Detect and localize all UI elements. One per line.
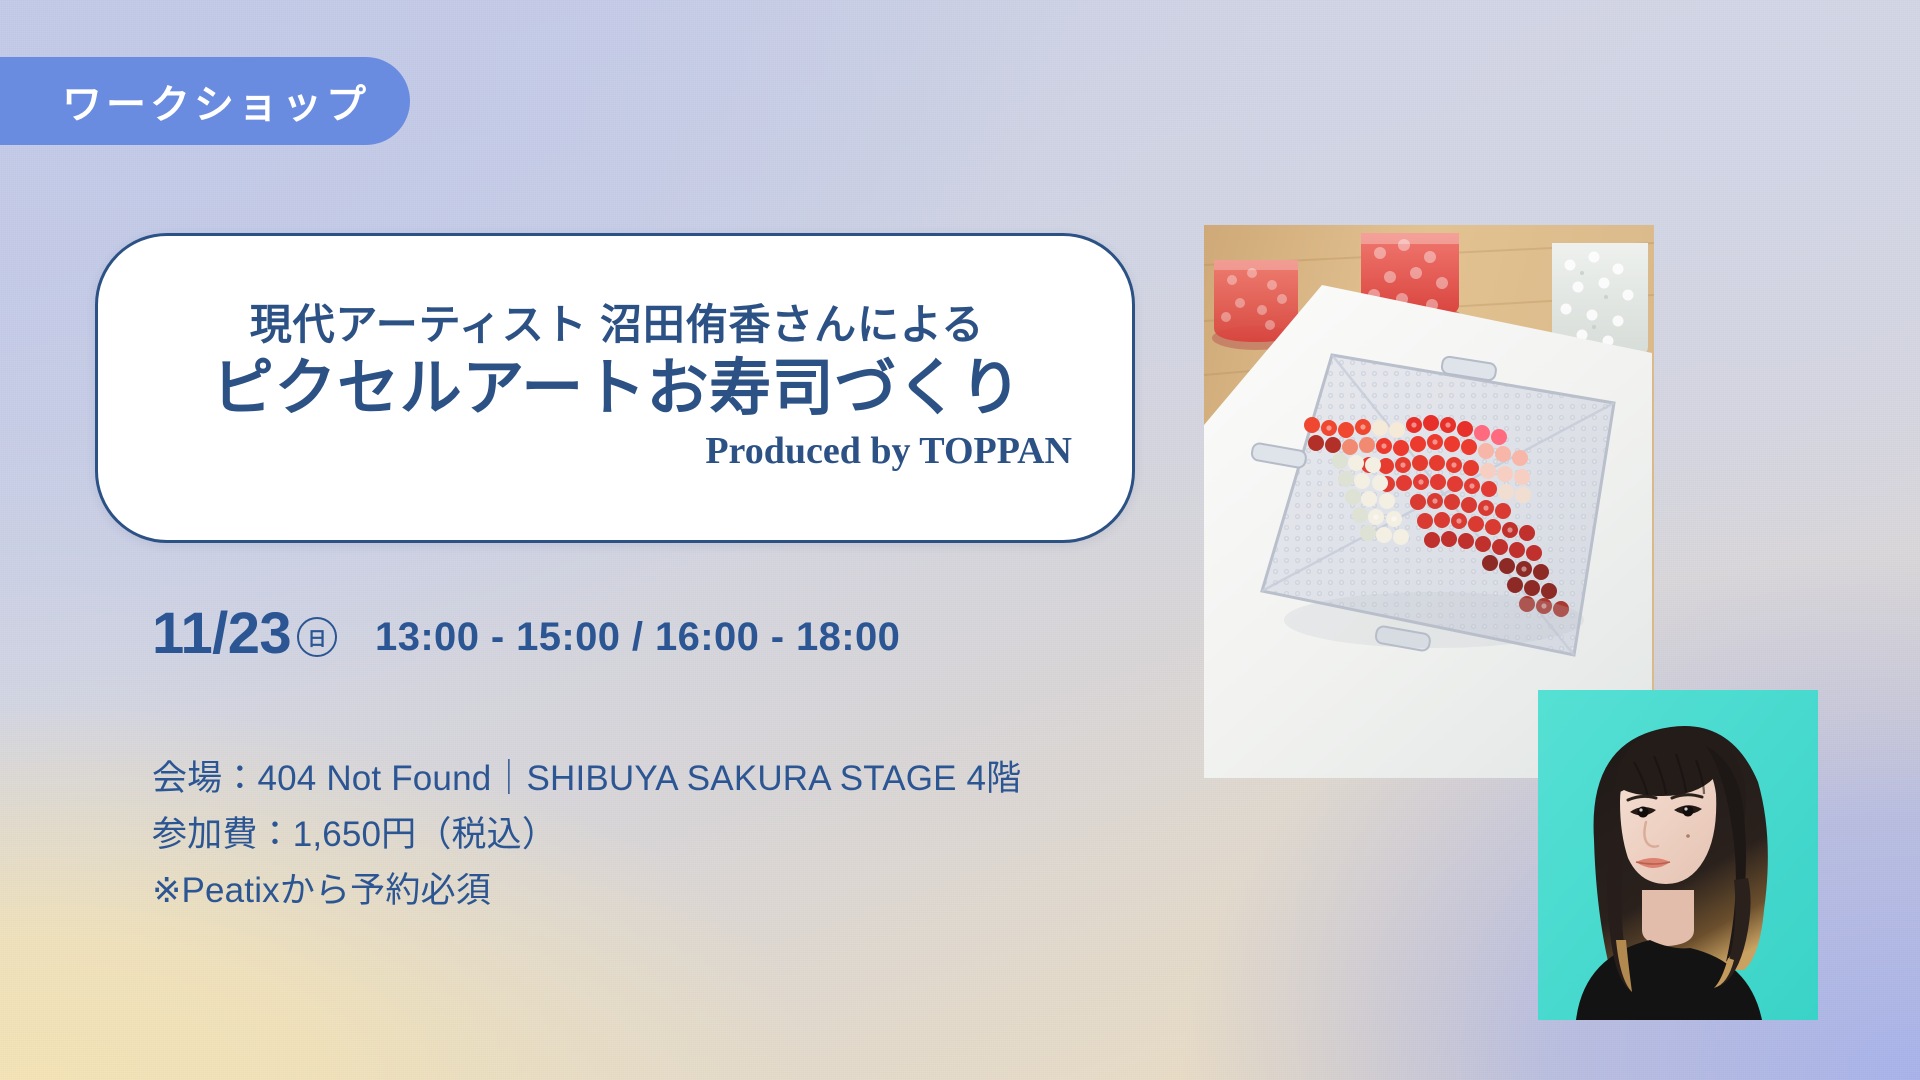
- artist-portrait-photo: [1538, 690, 1818, 1020]
- event-banner: ワークショップ 現代アーティスト 沼田侑香さんによる ピクセルアートお寿司づくり…: [0, 0, 1920, 1080]
- schedule-row: 11/23 日 13:00 - 15:00 / 16:00 - 18:00: [152, 605, 900, 663]
- event-times: 13:00 - 15:00 / 16:00 - 18:00: [375, 615, 900, 660]
- detail-reservation-note: ※Peatixから予約必須: [152, 869, 1021, 913]
- title-subtitle: 現代アーティスト 沼田侑香さんによる: [162, 301, 1072, 349]
- day-of-week-badge: 日: [297, 617, 337, 657]
- artist-portrait-illustration: [1538, 690, 1818, 1020]
- workshop-badge: ワークショップ: [0, 57, 410, 145]
- title-card: 現代アーティスト 沼田侑香さんによる ピクセルアートお寿司づくり Produce…: [95, 233, 1135, 543]
- event-date: 11/23: [152, 605, 291, 663]
- detail-fee: 参加費：1,650円（税込）: [152, 813, 1021, 857]
- produced-by-label: Produced by TOPPAN: [162, 429, 1072, 475]
- detail-venue: 会場：404 Not Found｜SHIBUYA SAKURA STAGE 4階: [152, 757, 1021, 801]
- title-main: ピクセルアートお寿司づくり: [162, 352, 1072, 425]
- workshop-badge-label: ワークショップ: [62, 72, 370, 130]
- event-details: 会場：404 Not Found｜SHIBUYA SAKURA STAGE 4階…: [152, 757, 1021, 913]
